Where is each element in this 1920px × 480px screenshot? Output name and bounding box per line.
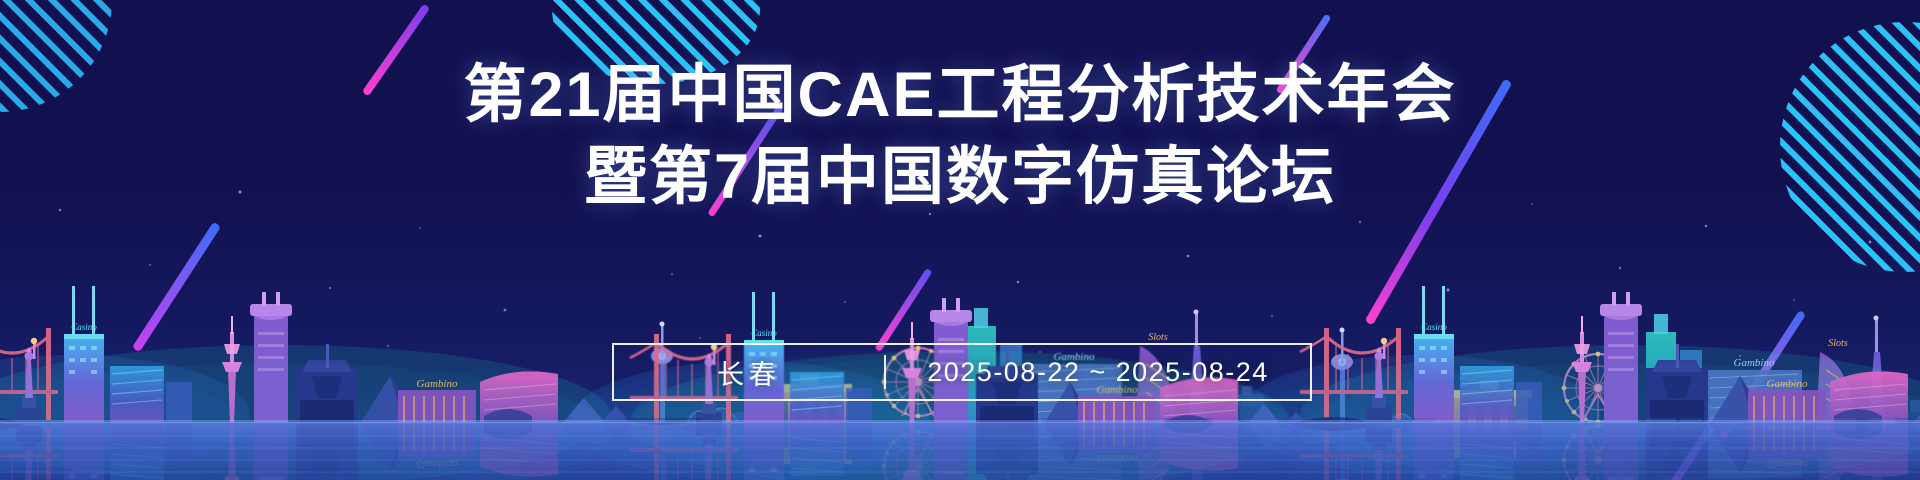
skyline-block-right (1240, 286, 1920, 480)
banner-titles: 第21届中国CAE工程分析技术年会 暨第7届中国数字仿真论坛 (0, 58, 1920, 215)
banner-title-line-1: 第21届中国CAE工程分析技术年会 (0, 58, 1920, 132)
water-reflection (0, 422, 1920, 480)
conference-banner: Casino (0, 0, 1920, 480)
event-date-range-label: 2025-08-22 ~ 2025-08-24 (886, 357, 1310, 388)
diagonal-streak-blue-purple-bottom-right (1662, 394, 1734, 480)
diagonal-streak-magenta-4 (874, 268, 932, 352)
diagonal-streak-blue-purple-left (132, 222, 221, 353)
banner-title-line-2: 暨第7届中国数字仿真论坛 (0, 140, 1920, 214)
event-city-label: 长春 (614, 353, 884, 392)
event-info-box: 长春 2025-08-22 ~ 2025-08-24 (612, 343, 1312, 401)
diagonal-streak-magenta-right (1718, 310, 1806, 440)
sky-glow (0, 180, 1920, 480)
